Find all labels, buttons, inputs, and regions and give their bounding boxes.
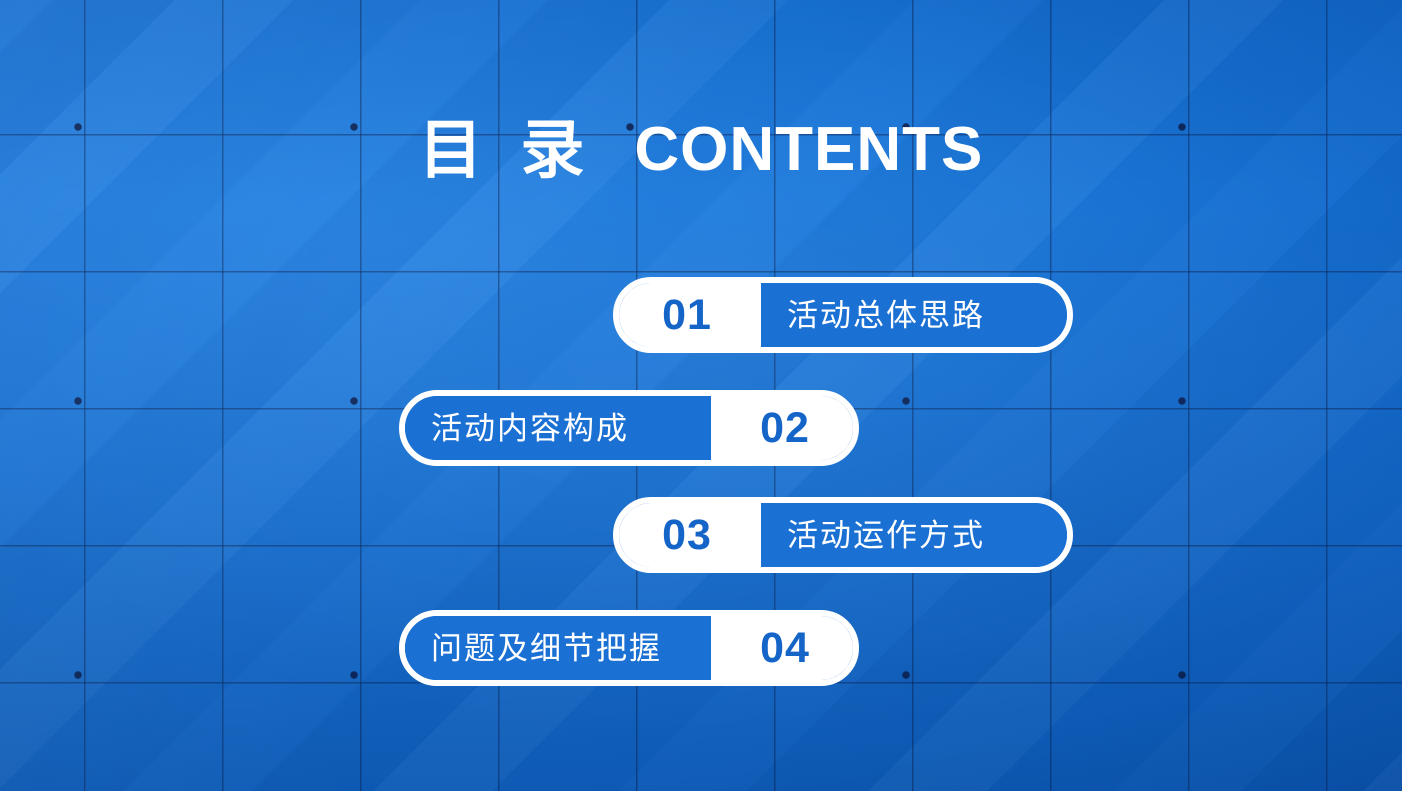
number-label-03: 03 (662, 514, 712, 557)
contents-item-01[interactable]: 01 活动总体思路 (613, 277, 1073, 353)
item-label-01: 活动总体思路 (787, 300, 985, 331)
number-label-01: 01 (662, 294, 712, 337)
number-badge-04: 04 (711, 610, 859, 686)
item-label-03: 活动运作方式 (787, 520, 985, 551)
presentation-slide: 目 录CONTENTS 01 活动总体思路 02 活动内容构成 03 活动运作方… (0, 0, 1402, 791)
number-badge-01: 01 (613, 277, 761, 353)
number-badge-03: 03 (613, 497, 761, 573)
label-block-04: 问题及细节把握 (399, 616, 711, 680)
item-label-02: 活动内容构成 (431, 413, 629, 444)
label-block-01: 活动总体思路 (761, 283, 1073, 347)
title-chinese: 目 录 (419, 118, 595, 182)
contents-item-02[interactable]: 02 活动内容构成 (399, 390, 859, 466)
contents-item-03[interactable]: 03 活动运作方式 (613, 497, 1073, 573)
number-badge-02: 02 (711, 390, 859, 466)
contents-item-04[interactable]: 04 问题及细节把握 (399, 610, 859, 686)
slide-title: 目 录CONTENTS (0, 118, 1402, 182)
number-label-02: 02 (760, 407, 810, 450)
label-block-02: 活动内容构成 (399, 396, 711, 460)
item-label-04: 问题及细节把握 (431, 633, 662, 664)
title-english: CONTENTS (634, 119, 983, 181)
number-label-04: 04 (760, 627, 810, 670)
label-block-03: 活动运作方式 (761, 503, 1073, 567)
